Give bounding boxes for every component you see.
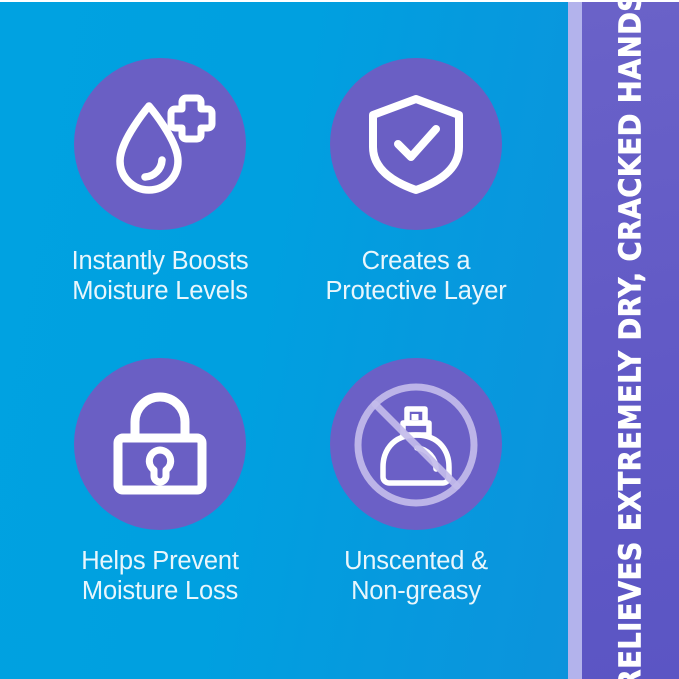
icon-circle <box>74 58 246 230</box>
icon-circle <box>74 358 246 530</box>
feature-caption: Helps Prevent Moisture Loss <box>30 546 290 606</box>
shield-check-icon <box>361 89 471 199</box>
caption-line: Non-greasy <box>286 576 546 606</box>
vertical-banner: RELIEVES EXTREMELY DRY, CRACKED HANDS <box>582 2 679 679</box>
caption-line: Helps Prevent <box>30 546 290 576</box>
no-perfume-icon <box>341 369 491 519</box>
feature-item-instantly-boosts-moisture-levels: Instantly Boosts Moisture Levels <box>30 58 290 306</box>
caption-line: Instantly Boosts <box>30 246 290 276</box>
feature-caption: Creates a Protective Layer <box>286 246 546 306</box>
caption-line: Unscented & <box>286 546 546 576</box>
caption-line: Moisture Levels <box>30 276 290 306</box>
feature-item-unscented-and-non-greasy: Unscented & Non-greasy <box>286 358 546 606</box>
product-feature-infographic: RELIEVES EXTREMELY DRY, CRACKED HANDS In… <box>0 0 679 679</box>
feature-item-helps-prevent-moisture-loss: Helps Prevent Moisture Loss <box>30 358 290 606</box>
feature-caption: Instantly Boosts Moisture Levels <box>30 246 290 306</box>
water-drop-plus-icon <box>100 84 220 204</box>
lavender-divider-strip <box>568 2 582 679</box>
banner-text: RELIEVES EXTREMELY DRY, CRACKED HANDS <box>613 2 648 679</box>
caption-line: Creates a <box>286 246 546 276</box>
icon-circle <box>330 358 502 530</box>
feature-item-creates-a-protective-layer: Creates a Protective Layer <box>286 58 546 306</box>
caption-line: Moisture Loss <box>30 576 290 606</box>
icon-circle <box>330 58 502 230</box>
feature-caption: Unscented & Non-greasy <box>286 546 546 606</box>
padlock-icon <box>104 388 216 500</box>
caption-line: Protective Layer <box>286 276 546 306</box>
